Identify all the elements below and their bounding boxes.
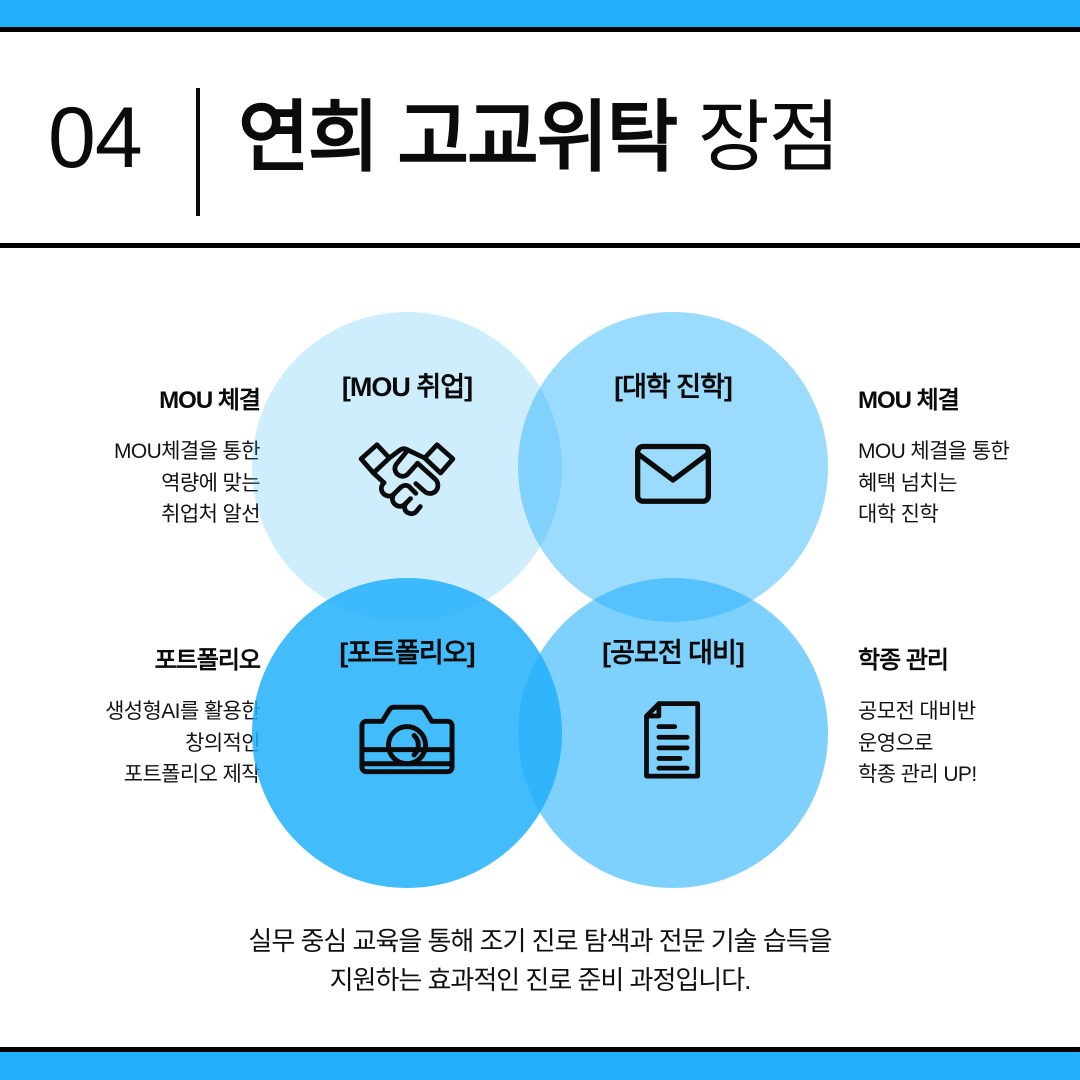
venn-cell-label: [공모전 대비]	[602, 640, 744, 667]
description-line: 취업처 알선	[24, 499, 260, 531]
description-bottom-right: 학종 관리 공모전 대비반 운영으로 학종 관리 UP!	[858, 648, 1080, 791]
caption-line: 지원하는 효과적인 진로 준비 과정입니다.	[0, 961, 1080, 1000]
venn-cell-portfolio[interactable]: [포트폴리오]	[252, 578, 562, 888]
description-body: MOU체결을 통한 역량에 맞는 취업처 알선	[24, 436, 260, 531]
footer-caption: 실무 중심 교육을 통해 조기 진로 탐색과 전문 기술 습득을 지원하는 효과…	[0, 922, 1080, 1000]
venn-cell-contest-prep[interactable]: [공모전 대비]	[518, 578, 828, 888]
description-top-right: MOU 체결 MOU 체결을 통한 혜택 넘치는 대학 진학	[858, 388, 1080, 531]
description-line: 학종 관리 UP!	[858, 759, 1080, 791]
description-line: 역량에 맞는	[24, 468, 260, 500]
description-heading: MOU 체결	[24, 388, 260, 414]
caption-line: 실무 중심 교육을 통해 조기 진로 탐색과 전문 기술 습득을	[0, 922, 1080, 961]
document-icon	[620, 693, 726, 785]
envelope-icon	[620, 427, 726, 519]
page-title: 연희 고교위탁 장점	[238, 97, 839, 179]
header-bottom-rule	[0, 243, 1080, 248]
bottom-accent-bar	[0, 1052, 1080, 1080]
description-top-left: MOU 체결 MOU체결을 통한 역량에 맞는 취업처 알선	[24, 388, 260, 531]
description-body: 생성형AI를 활용한 창의적인 포트폴리오 제작	[24, 696, 260, 791]
venn-cell-label: [MOU 취업]	[342, 374, 472, 401]
description-line: 포트폴리오 제작	[24, 759, 260, 791]
description-line: 대학 진학	[858, 499, 1080, 531]
description-heading: MOU 체결	[858, 388, 1080, 414]
description-bottom-left: 포트폴리오 생성형AI를 활용한 창의적인 포트폴리오 제작	[24, 648, 260, 791]
description-line: 공모전 대비반	[858, 696, 1080, 728]
description-line: 운영으로	[858, 728, 1080, 760]
header: 04 연희 고교위탁 장점	[0, 32, 1080, 243]
venn-diagram: [MOU 취업] [대학 진학]	[252, 312, 828, 852]
description-heading: 학종 관리	[858, 648, 1080, 674]
description-line: 혜택 넘치는	[858, 468, 1080, 500]
slide-root: 04 연희 고교위탁 장점 MOU 체결 MOU체결을 통한 역량에 맞는 취업…	[0, 0, 1080, 1080]
handshake-icon	[354, 427, 460, 519]
page-title-light: 장점	[698, 93, 840, 181]
venn-cell-label: [포트폴리오]	[339, 640, 474, 667]
section-number: 04	[48, 95, 142, 181]
venn-cell-label: [대학 진학]	[614, 374, 732, 401]
description-line: MOU 체결을 통한	[858, 436, 1080, 468]
header-divider	[196, 88, 200, 216]
description-body: 공모전 대비반 운영으로 학종 관리 UP!	[858, 696, 1080, 791]
description-line: 창의적인	[24, 728, 260, 760]
venn-cell-university-admission[interactable]: [대학 진학]	[518, 312, 828, 622]
page-title-strong: 연희 고교위탁	[238, 93, 676, 181]
description-body: MOU 체결을 통한 혜택 넘치는 대학 진학	[858, 436, 1080, 531]
description-line: 생성형AI를 활용한	[24, 696, 260, 728]
top-accent-bar	[0, 0, 1080, 27]
description-line: MOU체결을 통한	[24, 436, 260, 468]
venn-cell-mou-employment[interactable]: [MOU 취업]	[252, 312, 562, 622]
camera-icon	[354, 693, 460, 785]
description-heading: 포트폴리오	[24, 648, 260, 674]
